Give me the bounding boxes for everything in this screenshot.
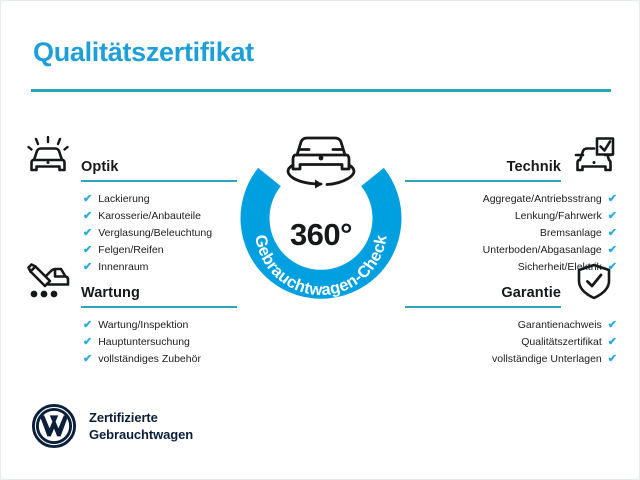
- car-checkbox-icon: [571, 135, 617, 177]
- footer-line-2: Gebrauchtwagen: [89, 427, 193, 442]
- footer-brand: Zertifizierte Gebrauchtwagen: [31, 403, 193, 449]
- list-item-label: Unterboden/Abgasanlage: [483, 242, 602, 259]
- list-item-label: Aggregate/Antriebsstrang: [483, 191, 602, 208]
- check-icon: ✔: [608, 228, 617, 239]
- section-garantie-title: Garantie: [501, 285, 571, 303]
- list-item: ✔Unterboden/Abgasanlage: [405, 242, 617, 259]
- list-item: ✔Verglasung/Beleuchtung: [83, 225, 237, 242]
- car-service-pen-icon: [25, 261, 71, 303]
- section-optik: Optik ✔Lackierung ✔Karosserie/Anbauteile…: [25, 133, 237, 276]
- section-technik: Technik ✔Aggregate/Antriebsstrang: [405, 133, 617, 276]
- list-item: ✔Bremsanlage: [405, 225, 617, 242]
- check-icon: ✔: [83, 194, 92, 205]
- list-item-label: Verglasung/Beleuchtung: [98, 225, 212, 242]
- title-divider: [31, 89, 611, 92]
- volkswagen-logo: [31, 403, 77, 449]
- list-item: ✔Karosserie/Anbauteile: [83, 208, 237, 225]
- section-wartung-header: Wartung: [25, 259, 237, 303]
- check-icon: ✔: [608, 320, 617, 331]
- section-optik-divider: [81, 180, 237, 182]
- list-item: ✔vollständiges Zubehör: [83, 351, 237, 368]
- list-item: ✔vollständige Unterlagen: [405, 351, 617, 368]
- section-technik-header: Technik: [405, 133, 617, 177]
- section-optik-title: Optik: [71, 159, 119, 177]
- check-icon: ✔: [608, 245, 617, 256]
- section-garantie: Garantie ✔Garantienachweis ✔Qualitätszer…: [405, 259, 617, 368]
- list-item-label: vollständige Unterlagen: [492, 351, 602, 368]
- car-shine-icon: [25, 135, 71, 177]
- section-technik-title: Technik: [507, 159, 571, 177]
- list-item: ✔Wartung/Inspektion: [83, 317, 237, 334]
- section-technik-divider: [405, 180, 561, 182]
- list-item: ✔Lackierung: [83, 191, 237, 208]
- list-item-label: vollständiges Zubehör: [98, 351, 201, 368]
- section-wartung: Wartung ✔Wartung/Inspektion ✔Hauptunters…: [25, 259, 237, 368]
- check-icon: ✔: [83, 228, 92, 239]
- list-item-label: Felgen/Reifen: [98, 242, 163, 259]
- list-item-label: Qualitätszertifikat: [521, 334, 602, 351]
- section-optik-header: Optik: [25, 133, 237, 177]
- footer-line-1: Zertifizierte: [89, 410, 158, 425]
- car-rotate-icon: [288, 138, 354, 189]
- page-title: Qualitätszertifikat: [33, 37, 254, 68]
- section-garantie-header: Garantie: [405, 259, 617, 303]
- list-item: ✔Hauptuntersuchung: [83, 334, 237, 351]
- quality-certificate-page: Qualitätszertifikat: [0, 0, 640, 480]
- list-item: ✔Felgen/Reifen: [83, 242, 237, 259]
- list-item: ✔Aggregate/Antriebsstrang: [405, 191, 617, 208]
- check-icon: ✔: [83, 211, 92, 222]
- 360-check-badge: Gebrauchtwagen-Check 360°: [233, 119, 409, 305]
- list-item: ✔Lenkung/Fahrwerk: [405, 208, 617, 225]
- check-icon: ✔: [83, 354, 92, 365]
- list-item: ✔Qualitätszertifikat: [405, 334, 617, 351]
- section-garantie-list: ✔Garantienachweis ✔Qualitätszertifikat ✔…: [405, 317, 617, 368]
- check-icon: ✔: [83, 320, 92, 331]
- shield-check-icon: [571, 261, 617, 303]
- list-item-label: Karosserie/Anbauteile: [98, 208, 201, 225]
- check-icon: ✔: [83, 245, 92, 256]
- check-icon: ✔: [608, 211, 617, 222]
- check-icon: ✔: [608, 337, 617, 348]
- section-wartung-title: Wartung: [71, 285, 140, 303]
- section-wartung-divider: [81, 306, 237, 308]
- check-icon: ✔: [608, 194, 617, 205]
- list-item-label: Lenkung/Fahrwerk: [515, 208, 602, 225]
- check-icon: ✔: [608, 354, 617, 365]
- section-garantie-divider: [405, 306, 561, 308]
- footer-brand-text: Zertifizierte Gebrauchtwagen: [89, 409, 193, 443]
- list-item-label: Hauptuntersuchung: [98, 334, 190, 351]
- list-item-label: Wartung/Inspektion: [98, 317, 188, 334]
- list-item-label: Bremsanlage: [540, 225, 602, 242]
- section-wartung-list: ✔Wartung/Inspektion ✔Hauptuntersuchung ✔…: [25, 317, 237, 368]
- check-icon: ✔: [83, 337, 92, 348]
- badge-center-value: 360°: [233, 217, 409, 253]
- list-item-label: Garantienachweis: [518, 317, 602, 334]
- list-item-label: Lackierung: [98, 191, 149, 208]
- list-item: ✔Garantienachweis: [405, 317, 617, 334]
